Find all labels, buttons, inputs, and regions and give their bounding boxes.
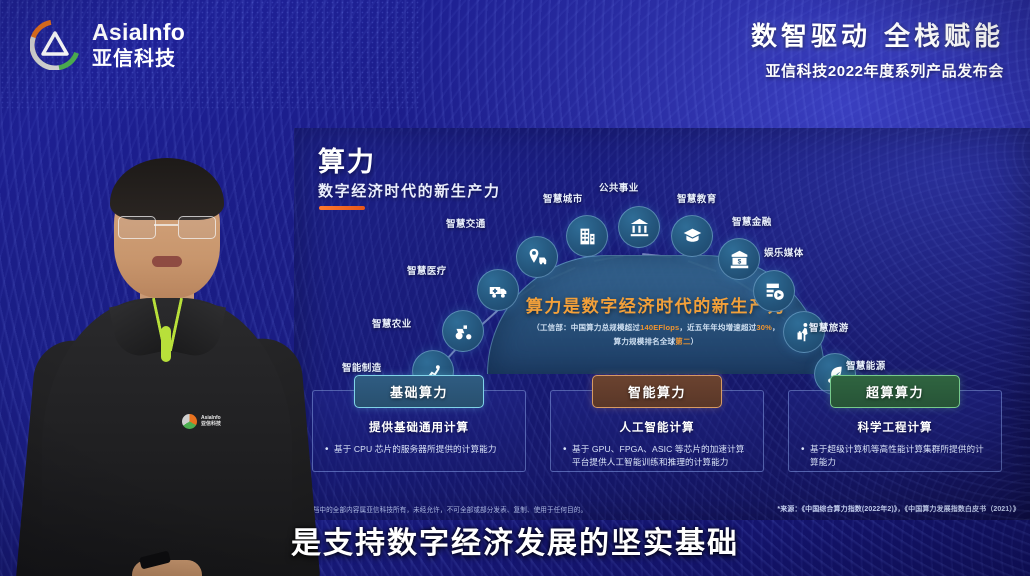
subtitle-caption: 是支持数字经济发展的坚实基础 — [0, 518, 1030, 562]
presentation-screenshot: AsiaInfo 亚信科技 数智驱动 全栈赋能 亚信科技2022年度系列产品发布… — [0, 0, 1030, 576]
vignette-overlay — [0, 0, 1030, 576]
